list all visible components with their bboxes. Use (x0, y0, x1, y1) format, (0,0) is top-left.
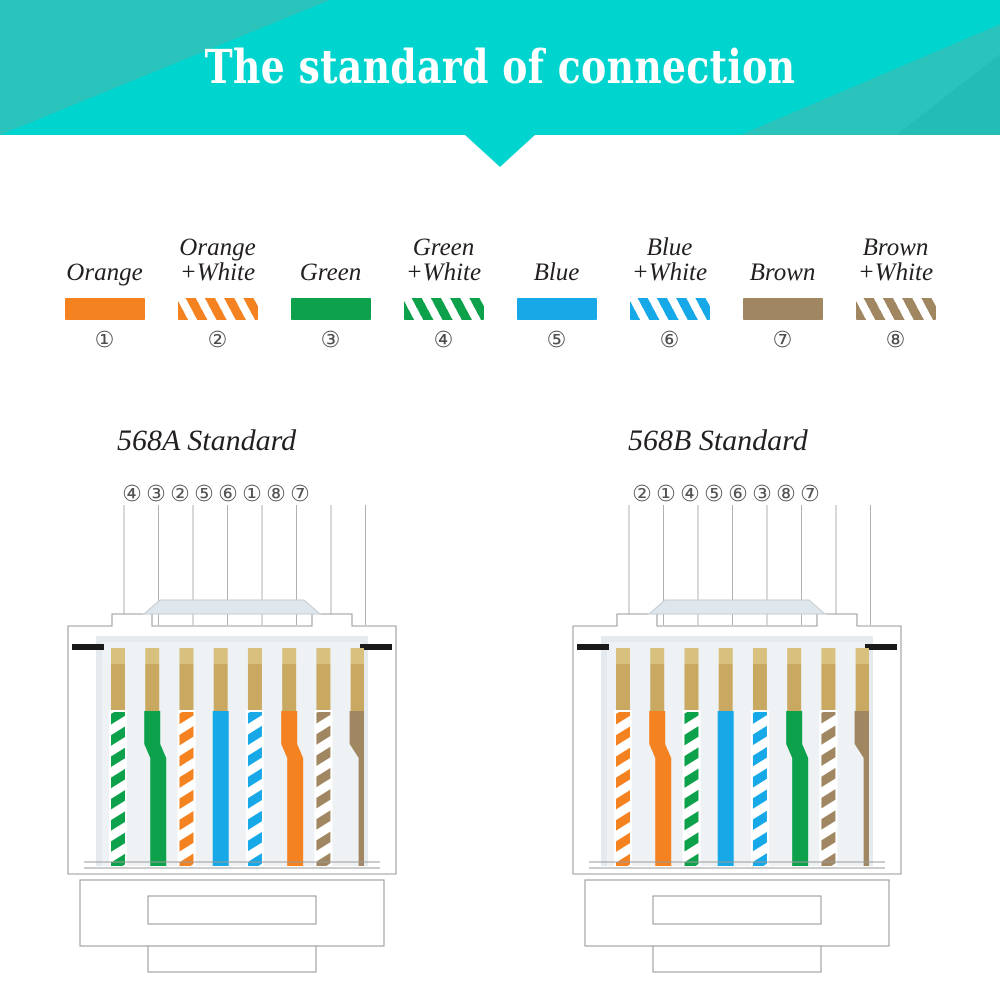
pin-number: ④ (678, 484, 702, 506)
wire-blue (213, 711, 229, 868)
wiring-standard-infographic: The standard of connection Orange①Orange… (0, 0, 1000, 1000)
legend-item-number: ③ (321, 330, 341, 352)
legend-color-swatch (404, 298, 484, 320)
legend-item-label: Brown +White (826, 235, 966, 287)
pin-number: ① (240, 484, 264, 506)
standard-a-rj45-connector (62, 596, 402, 996)
pin-number: ① (654, 484, 678, 506)
pin-number: ⑤ (192, 484, 216, 506)
pin-number: ② (168, 484, 192, 506)
legend-color-swatch (856, 298, 936, 320)
legend-item-number: ⑥ (660, 330, 680, 352)
legend-item: Brown⑦ (726, 212, 839, 372)
header-banner: The standard of connection (0, 0, 1000, 135)
legend-item: Orange +White② (161, 212, 274, 372)
legend-color-swatch (517, 298, 597, 320)
legend-item: Green③ (274, 212, 387, 372)
standard-b-pin-numbers: ②①④⑤⑥③⑧⑦ (630, 484, 822, 506)
wire-brown-white (820, 711, 836, 868)
legend-color-swatch (291, 298, 371, 320)
legend-item: Blue⑤ (500, 212, 613, 372)
pin-number: ② (630, 484, 654, 506)
pin-number: ⑧ (774, 484, 798, 506)
legend-color-swatch (65, 298, 145, 320)
wire-green-white (683, 711, 699, 868)
legend-item: Brown +White⑧ (839, 212, 952, 372)
legend-item: Orange① (48, 212, 161, 372)
pin-number: ⑥ (726, 484, 750, 506)
wire-brown-white (315, 711, 331, 868)
standard-b-rj45-connector (567, 596, 907, 996)
pin-number: ③ (750, 484, 774, 506)
pin-number: ⑤ (702, 484, 726, 506)
legend-item-number: ④ (434, 330, 454, 352)
wire-blue (718, 711, 734, 868)
legend-color-swatch (178, 298, 258, 320)
legend-item-number: ⑦ (773, 330, 793, 352)
wire-blue-white (247, 711, 263, 868)
wire-blue-white (752, 711, 768, 868)
pin-number: ⑧ (264, 484, 288, 506)
legend-item: Blue +White⑥ (613, 212, 726, 372)
pin-number: ⑥ (216, 484, 240, 506)
page-title: The standard of connection (100, 0, 900, 135)
standard-b-title: 568B Standard (628, 424, 808, 458)
legend-item-number: ⑤ (547, 330, 567, 352)
legend-item-number: ② (208, 330, 228, 352)
pin-number: ③ (144, 484, 168, 506)
legend-color-swatch (630, 298, 710, 320)
standard-a-pin-numbers: ④③②⑤⑥①⑧⑦ (120, 484, 312, 506)
wire-green-white (110, 711, 126, 868)
legend-color-swatch (743, 298, 823, 320)
legend-item-number: ⑧ (886, 330, 906, 352)
pin-number: ④ (120, 484, 144, 506)
rj45-connector-drawing (567, 596, 907, 996)
legend-item: Green +White④ (387, 212, 500, 372)
pin-number: ⑦ (798, 484, 822, 506)
wire-orange-white (178, 711, 194, 868)
wire-color-legend: Orange①Orange +White②Green③Green +White④… (48, 212, 952, 372)
pin-number: ⑦ (288, 484, 312, 506)
wire-orange-white (615, 711, 631, 868)
standard-a-title: 568A Standard (117, 424, 296, 458)
legend-item-number: ① (95, 330, 115, 352)
rj45-connector-drawing (62, 596, 402, 996)
header-pointer-notch (465, 135, 535, 167)
